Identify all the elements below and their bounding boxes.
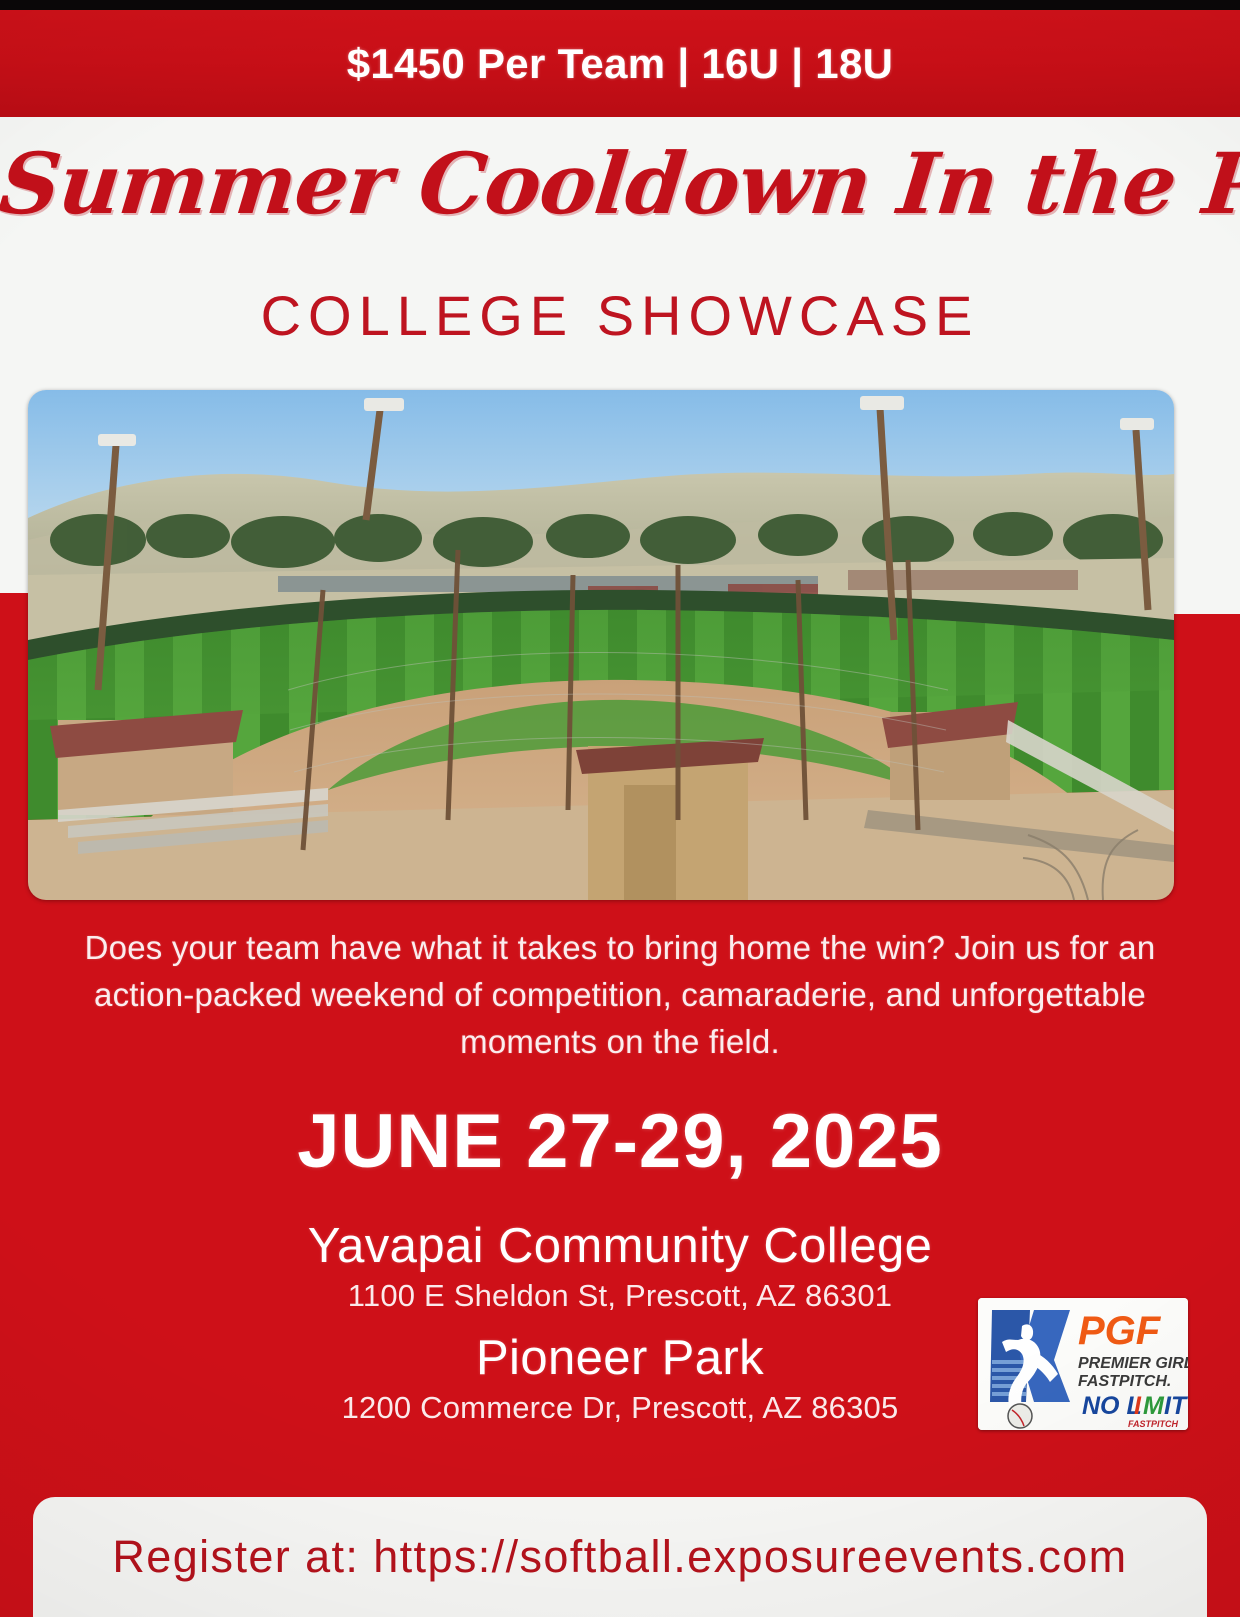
flyer-root: $1450 Per Team | 16U | 18U Summer Cooldo… xyxy=(0,0,1240,1617)
svg-text:NO L: NO L xyxy=(1082,1392,1142,1420)
softball-icon xyxy=(1008,1404,1032,1428)
pgf-logo: PGF PREMIER GIRLS FASTPITCH. NO L I M IT… xyxy=(978,1298,1188,1430)
event-description: Does your team have what it takes to bri… xyxy=(50,925,1190,1066)
svg-text:FASTPITCH: FASTPITCH xyxy=(1128,1419,1179,1429)
svg-text:IT: IT xyxy=(1164,1392,1188,1420)
ballpark-photo xyxy=(28,390,1174,900)
right-dugout xyxy=(882,702,1018,800)
register-link[interactable]: Register at: https://softball.exposureev… xyxy=(112,1531,1127,1583)
svg-text:I: I xyxy=(1134,1392,1142,1420)
price-banner: $1450 Per Team | 16U | 18U xyxy=(0,10,1240,117)
svg-text:M: M xyxy=(1143,1392,1165,1420)
pgf-logo-graphic: PGF PREMIER GIRLS FASTPITCH. NO L I M IT… xyxy=(978,1298,1188,1430)
pgf-acronym: PGF xyxy=(1078,1309,1162,1353)
pgf-line2: FASTPITCH. xyxy=(1078,1373,1171,1390)
ballpark-photo-illustration xyxy=(28,390,1174,900)
event-dates: JUNE 27-29, 2025 xyxy=(0,1098,1240,1185)
price-banner-text: $1450 Per Team | 16U | 18U xyxy=(347,40,894,88)
center-building xyxy=(576,738,764,900)
pgf-line1: PREMIER GIRLS xyxy=(1078,1355,1188,1372)
register-panel[interactable]: Register at: https://softball.exposureev… xyxy=(33,1497,1207,1617)
venue-name: Yavapai Community College xyxy=(0,1218,1240,1274)
top-edge-bar xyxy=(0,0,1240,10)
page-subtitle: COLLEGE SHOWCASE xyxy=(0,285,1240,347)
page-title: Summer Cooldown In the Pines xyxy=(0,140,1240,228)
